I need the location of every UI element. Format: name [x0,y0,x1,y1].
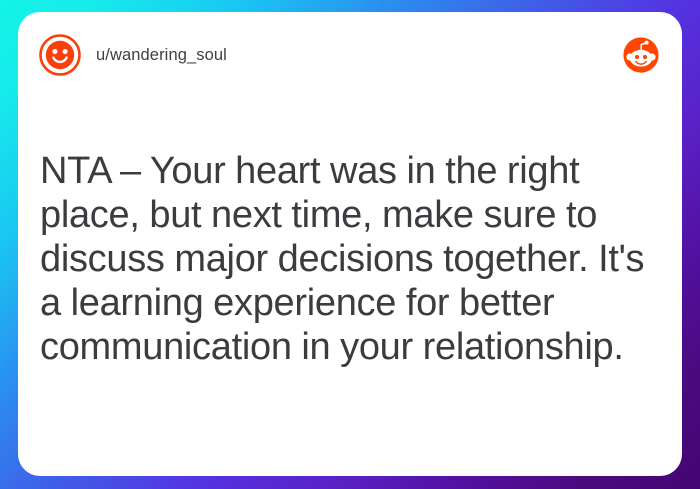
screenshot-root: u/wandering_soul [0,0,700,489]
post-text: NTA – Your heart was in the right place,… [40,150,652,369]
post-body: NTA – Your heart was in the right place,… [18,98,682,476]
username-label: u/wandering_soul [96,46,227,65]
avatar[interactable] [38,33,82,77]
post-card: u/wandering_soul [18,12,682,476]
post-header: u/wandering_soul [18,12,682,98]
reddit-snoo-icon[interactable] [622,36,660,74]
